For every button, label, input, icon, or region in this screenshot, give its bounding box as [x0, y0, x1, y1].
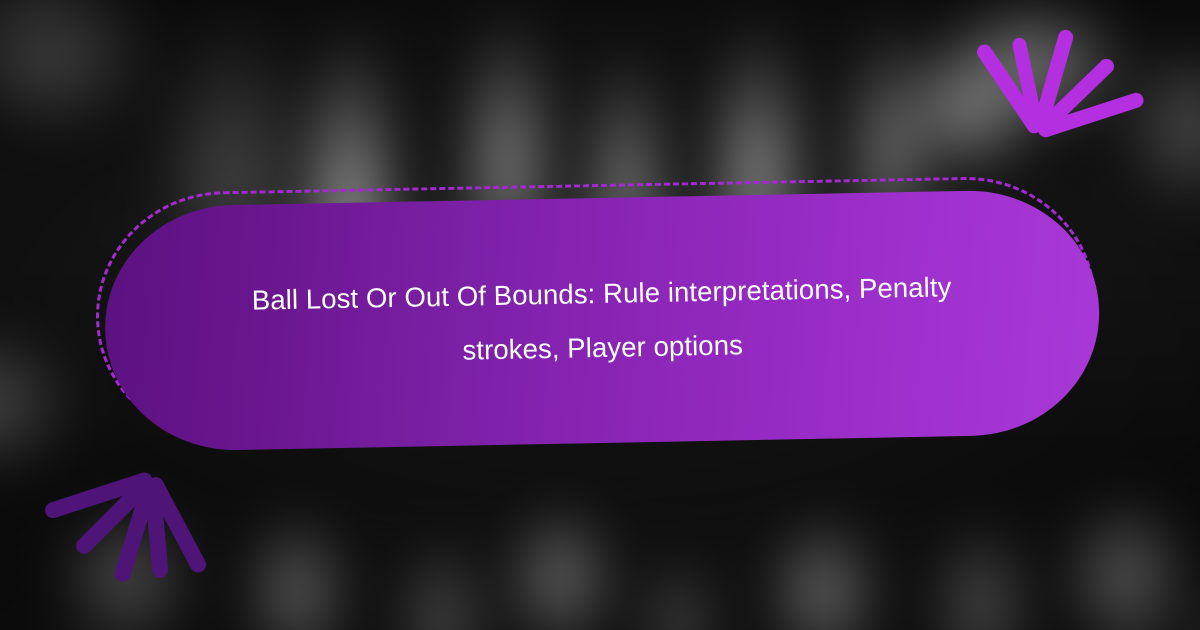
banner-title: Ball Lost Or Out Of Bounds: Rule interpr…: [251, 260, 953, 381]
banner-canvas: Ball Lost Or Out Of Bounds: Rule interpr…: [0, 0, 1200, 630]
banner-card: Ball Lost Or Out Of Bounds: Rule interpr…: [97, 160, 1102, 464]
banner-pill: Ball Lost Or Out Of Bounds: Rule interpr…: [103, 188, 1102, 452]
